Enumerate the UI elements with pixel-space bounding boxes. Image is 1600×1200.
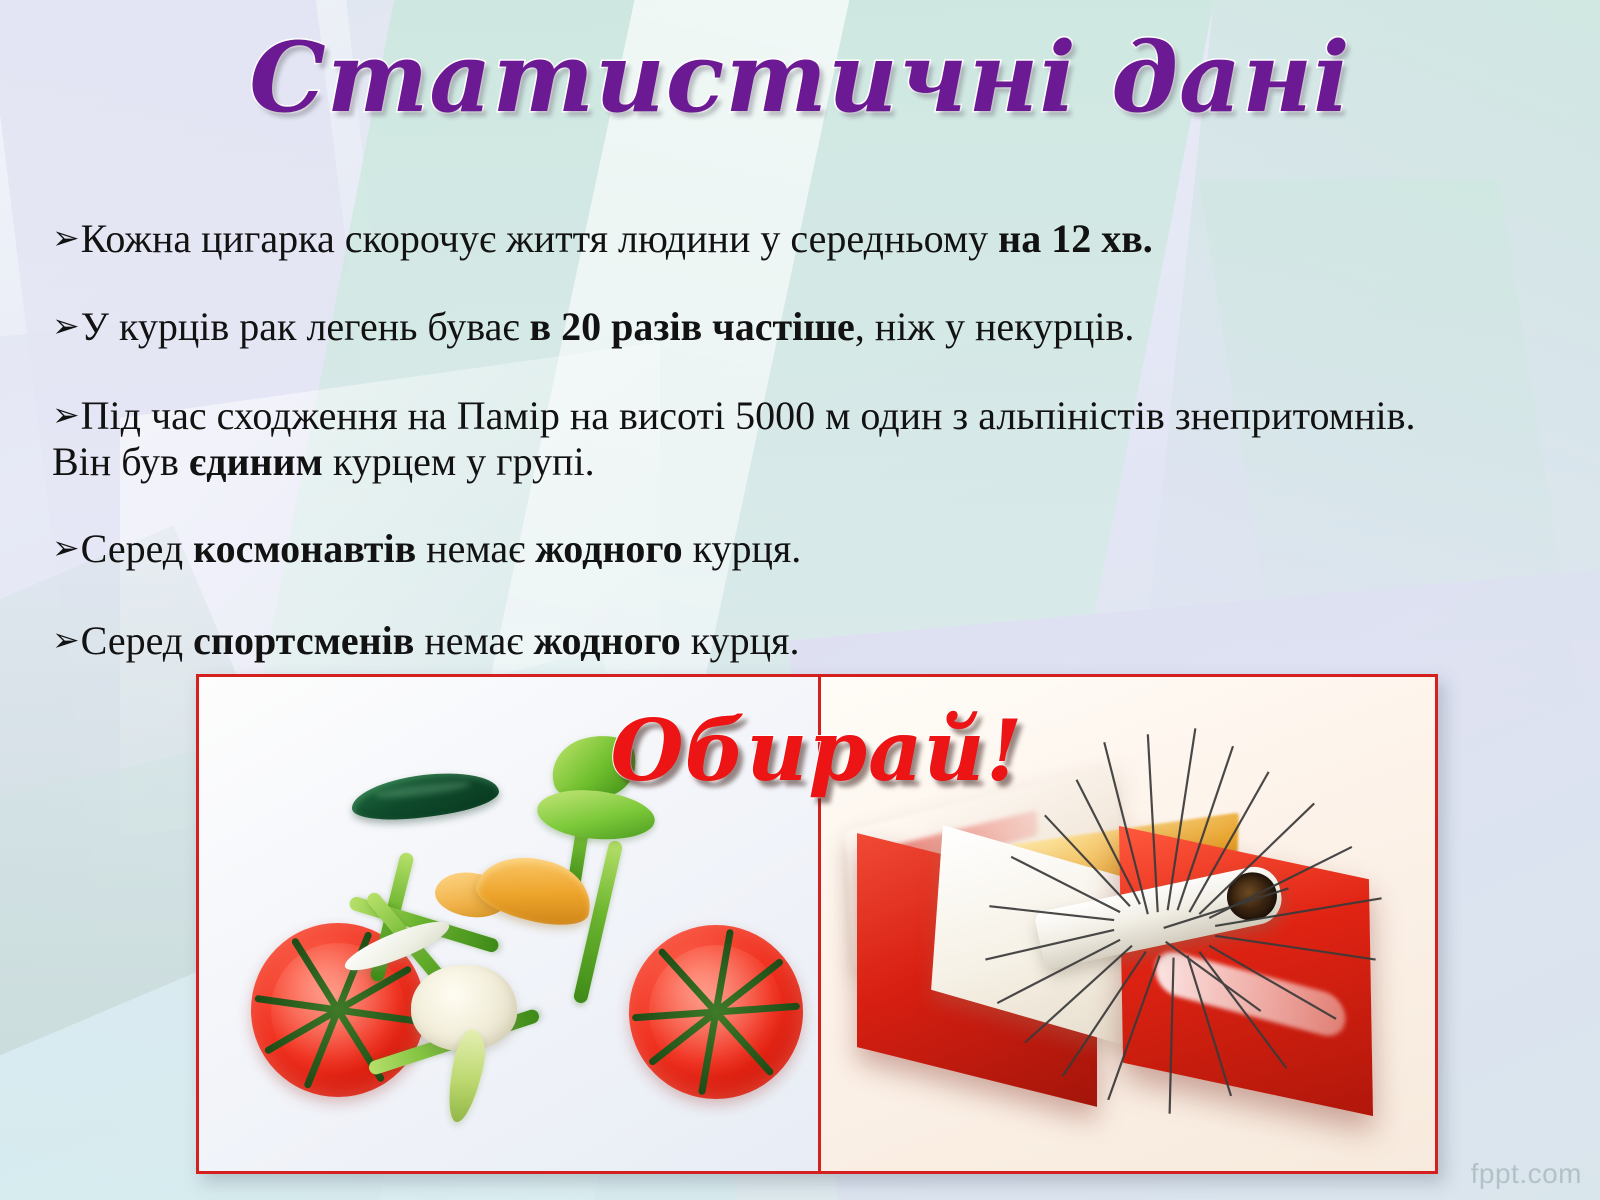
arrow-bullet-icon: ➢	[52, 623, 80, 656]
bullet-item-3: ➢Під час сходження на Памір на висоті 50…	[52, 393, 1422, 486]
bullet-5-text-plain-a: Серед	[81, 618, 194, 663]
bullet-4-text-bold-b: жодного	[535, 526, 682, 571]
bullet-item-1: ➢Кожна цигарка скорочує життя людини у с…	[52, 216, 1422, 262]
watermark-fppt: fppt.com	[1471, 1158, 1582, 1190]
green-pepper-handlebar-lower-icon	[535, 785, 657, 845]
bullet-5-text-plain-c: курця.	[681, 618, 800, 663]
bullet-item-4: ➢Серед космонавтів немає жодного курця.	[52, 526, 1422, 572]
page-title-container: Статистичні дані	[0, 28, 1600, 129]
arrow-bullet-icon: ➢	[52, 221, 80, 254]
photo-vegetable-bicycle	[199, 677, 818, 1171]
bullet-4-text-bold-a: космонавтів	[193, 526, 416, 571]
cigarette-tobacco-tip-icon	[1222, 868, 1281, 925]
photo-cigarette-pack: Обирай!	[818, 677, 1435, 1171]
photo-comparison-frame: Обирай! Обирай!	[196, 674, 1438, 1174]
tomato-wheel-front-icon	[629, 925, 803, 1099]
bullet-2-text-plain-b: , ніж у некурців.	[855, 304, 1135, 349]
bullet-5-text-plain-b: немає	[414, 618, 533, 663]
bullet-4-text-plain-b: немає	[416, 526, 535, 571]
bullet-4-text-plain-a: Серед	[81, 526, 194, 571]
bullet-3-text-bold: єдиним	[189, 439, 323, 484]
slide-canvas: Статистичні дані ➢Кожна цигарка скорочує…	[0, 0, 1600, 1200]
arrow-bullet-icon: ➢	[52, 531, 80, 564]
bullet-5-text-bold-b: жодного	[533, 618, 680, 663]
arrow-bullet-icon: ➢	[52, 309, 80, 342]
bullet-list: ➢Кожна цигарка скорочує життя людини у с…	[52, 176, 1422, 664]
page-title: Статистичні дані	[249, 28, 1350, 129]
bullet-1-text-plain: Кожна цигарка скорочує життя людини у се…	[81, 216, 998, 261]
bullet-item-2: ➢У курців рак легень буває в 20 разів ча…	[52, 304, 1422, 350]
arrow-bullet-icon: ➢	[52, 398, 80, 431]
bullet-2-text-bold: в 20 разів частіше	[530, 304, 855, 349]
bullet-item-5: ➢Серед спортсменів немає жодного курця.	[52, 618, 1422, 664]
bullet-2-text-plain-a: У курців рак легень буває	[81, 304, 530, 349]
bullet-1-text-bold: на 12 хв.	[998, 216, 1153, 261]
cucumber-seat-icon	[349, 766, 501, 826]
bullet-5-text-bold-a: спортсменів	[193, 618, 414, 663]
bullet-4-text-plain-c: курця.	[683, 526, 802, 571]
bullet-3-text-plain-b: курцем у групі.	[323, 439, 595, 484]
